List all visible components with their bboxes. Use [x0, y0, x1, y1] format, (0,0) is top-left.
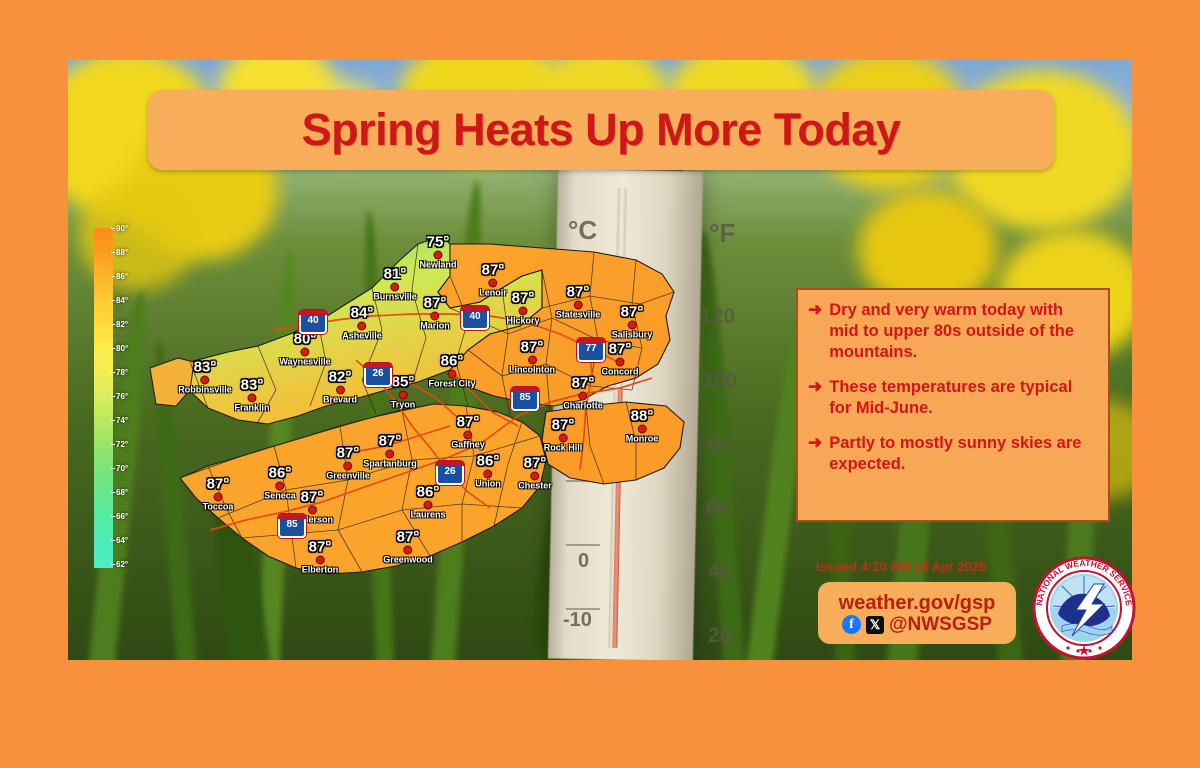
bullet-text: Dry and very warm today with mid to uppe… [829, 300, 1096, 363]
interstate-number: 85 [286, 519, 297, 530]
map-svg [150, 230, 710, 600]
map-region-southeast [542, 402, 684, 484]
weather-graphic: °C °F 120 100 80 60 40 20 0 -10 Spring H… [0, 0, 1200, 768]
colorbar-label-62: 62° [116, 560, 128, 569]
colorbar-label-88: 88° [116, 248, 128, 257]
x-twitter-icon[interactable]: 𝕏 [866, 616, 884, 634]
colorbar-label-82: 82° [116, 320, 128, 329]
map-region-upstate [180, 404, 546, 574]
colorbar-label-76: 76° [116, 392, 128, 401]
forecast-bullets-panel: ➜ Dry and very warm today with mid to up… [796, 288, 1110, 522]
colorbar-label-86: 86° [116, 272, 128, 281]
bullet-text: Partly to mostly sunny skies are expecte… [829, 433, 1096, 475]
interstate-shield-26: 26 [364, 363, 392, 387]
thermometer-f-tick-80: 80 [708, 432, 731, 456]
bullet-item: ➜ Dry and very warm today with mid to up… [808, 300, 1096, 363]
colorbar-label-70: 70° [116, 464, 128, 473]
website-url[interactable]: weather.gov/gsp [839, 592, 996, 614]
thermometer-f-tick-40: 40 [708, 560, 731, 584]
interstate-number: 40 [307, 315, 318, 326]
interstate-number: 40 [469, 311, 480, 322]
interstate-shield-85: 85 [511, 387, 539, 411]
colorbar-label-78: 78° [116, 368, 128, 377]
contact-box: weather.gov/gsp f 𝕏 @NWSGSP [818, 582, 1016, 644]
bullet-item: ➜ Partly to mostly sunny skies are expec… [808, 433, 1096, 475]
bullet-text: These temperatures are typical for Mid-J… [829, 377, 1096, 419]
arrow-icon: ➜ [808, 377, 822, 397]
thermometer-f-tick-20: 20 [708, 624, 731, 648]
colorbar-label-80: 80° [116, 344, 128, 353]
interstate-shield-26: 26 [436, 461, 464, 485]
title-banner: Spring Heats Up More Today [148, 90, 1054, 170]
colorbar-label-84: 84° [116, 296, 128, 305]
interstate-shield-77: 77 [577, 338, 605, 362]
colorbar-label-68: 68° [116, 488, 128, 497]
interstate-shield-85: 85 [278, 514, 306, 538]
colorbar-label-72: 72° [116, 440, 128, 449]
nws-logo: NATIONAL WEATHER SERVICE [1032, 556, 1136, 660]
thermometer-c-tick-neg10: -10 [563, 609, 592, 632]
arrow-icon: ➜ [808, 433, 822, 453]
bullet-item: ➜ These temperatures are typical for Mid… [808, 377, 1096, 419]
interstate-number: 26 [372, 368, 383, 379]
forecast-temperature-map: 75°Newland81°Burnsville87°Lenoir87°State… [150, 230, 710, 600]
interstate-number: 85 [519, 392, 530, 403]
social-row: f 𝕏 @NWSGSP [842, 615, 992, 635]
interstate-number: 26 [444, 466, 455, 477]
interstate-number: 77 [585, 343, 596, 354]
arrow-icon: ➜ [808, 300, 822, 320]
map-region-far-west [150, 358, 194, 406]
facebook-icon[interactable]: f [842, 615, 861, 634]
page-title: Spring Heats Up More Today [302, 104, 901, 156]
colorbar-label-74: 74° [116, 416, 128, 425]
colorbar-label-64: 64° [116, 536, 128, 545]
colorbar-gradient [94, 228, 113, 568]
temperature-colorbar: High Temperature (F) 90° 88° 86° 84° 82°… [78, 222, 140, 574]
interstate-shield-40: 40 [461, 306, 489, 330]
interstate-shield-40: 40 [299, 310, 327, 334]
thermometer-fahrenheit-label: °F [709, 218, 735, 249]
social-handle[interactable]: @NWSGSP [889, 615, 992, 635]
issued-timestamp: Issued 4:20 AM 14 Apr 2026 [816, 559, 986, 574]
colorbar-label-90: 90° [116, 224, 128, 233]
colorbar-label-66: 66° [116, 512, 128, 521]
